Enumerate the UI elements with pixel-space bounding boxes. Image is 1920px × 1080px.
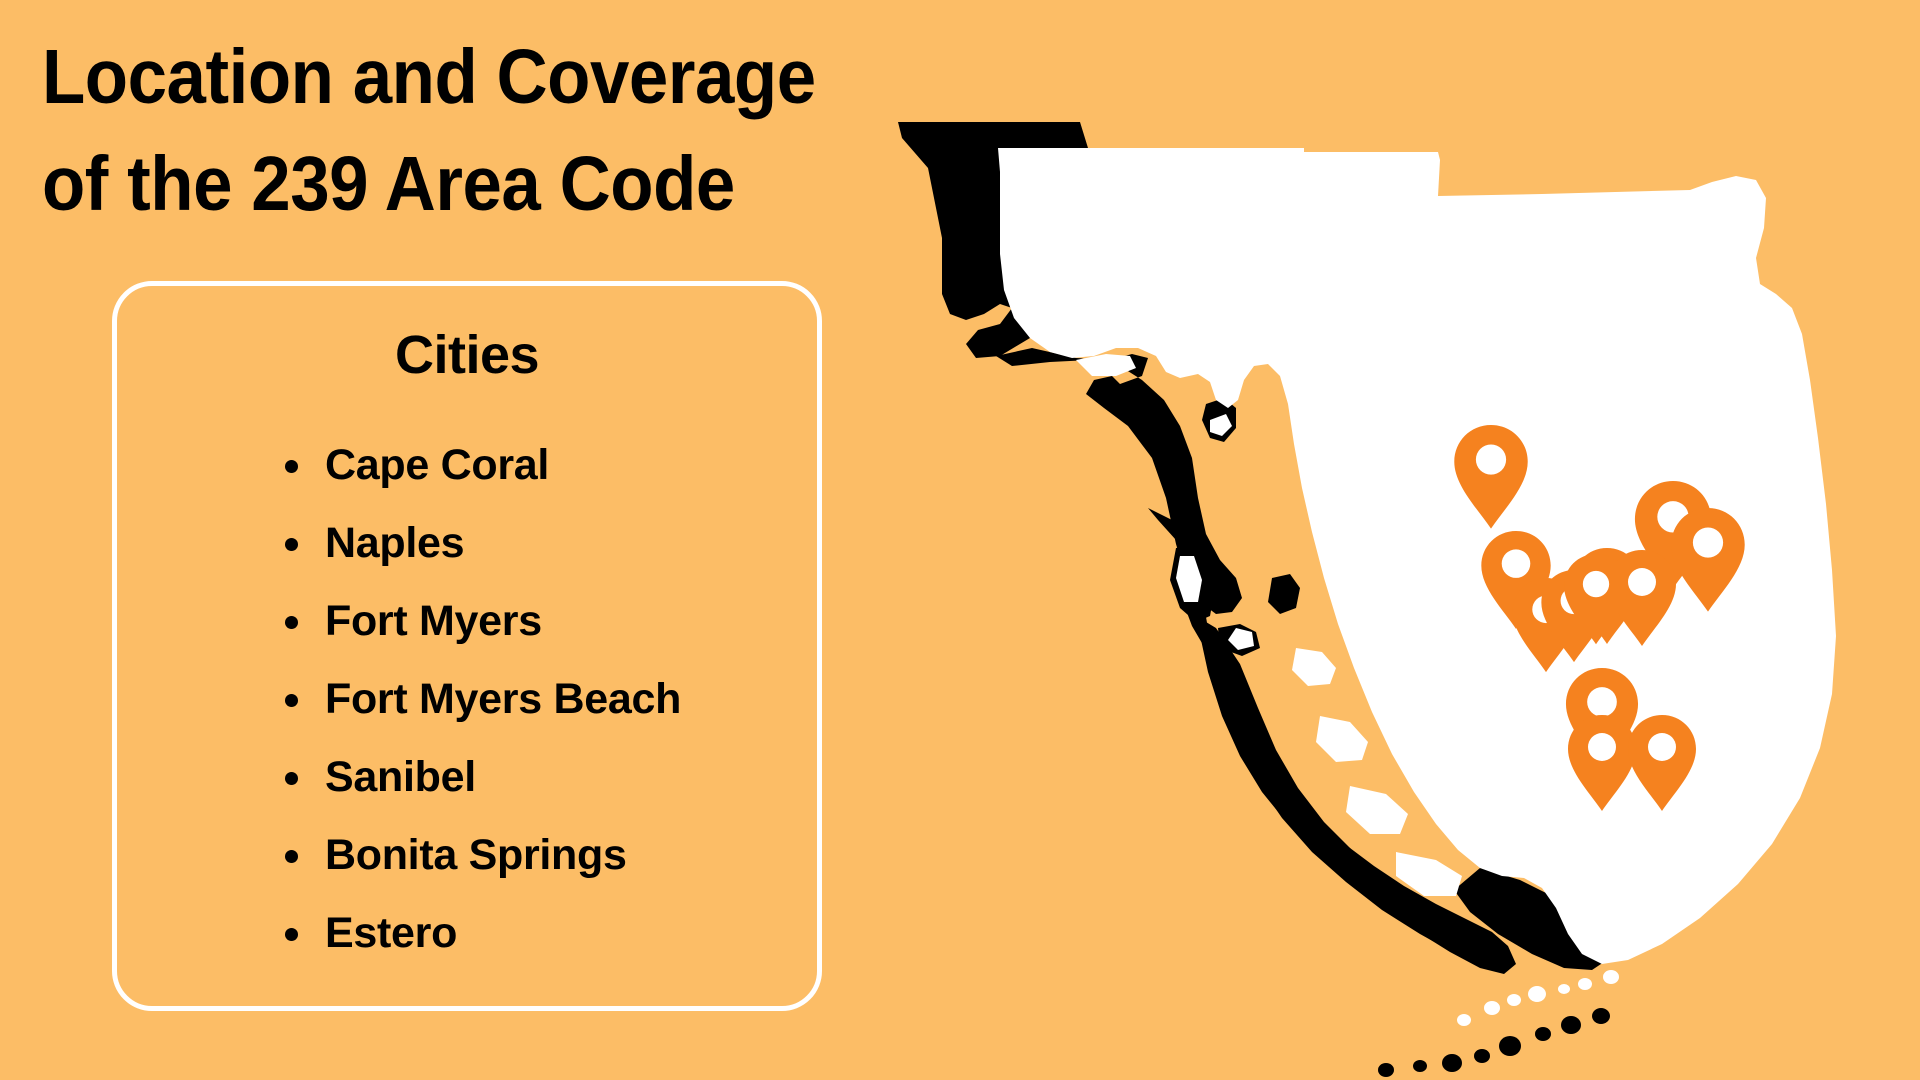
florida-map [880,108,1890,1073]
list-item: Cape Coral [325,426,681,504]
title-line-1: Location and Coverage [42,24,888,131]
cities-list: Cape Coral Naples Fort Myers Fort Myers … [267,426,681,972]
list-item: Sanibel [325,738,681,816]
list-item: Bonita Springs [325,816,681,894]
list-item: Naples [325,504,681,582]
cities-heading: Cities [117,324,817,386]
poster-canvas: Location and Coverage of the 239 Area Co… [0,0,1920,1080]
list-item: Fort Myers Beach [325,660,681,738]
list-item: Fort Myers [325,582,681,660]
list-item: Estero [325,894,681,972]
title-line-2: of the 239 Area Code [42,131,888,238]
florida-keys [1378,970,1619,1077]
page-title: Location and Coverage of the 239 Area Co… [42,24,962,238]
cities-card: Cities Cape Coral Naples Fort Myers Fort… [112,281,822,1011]
